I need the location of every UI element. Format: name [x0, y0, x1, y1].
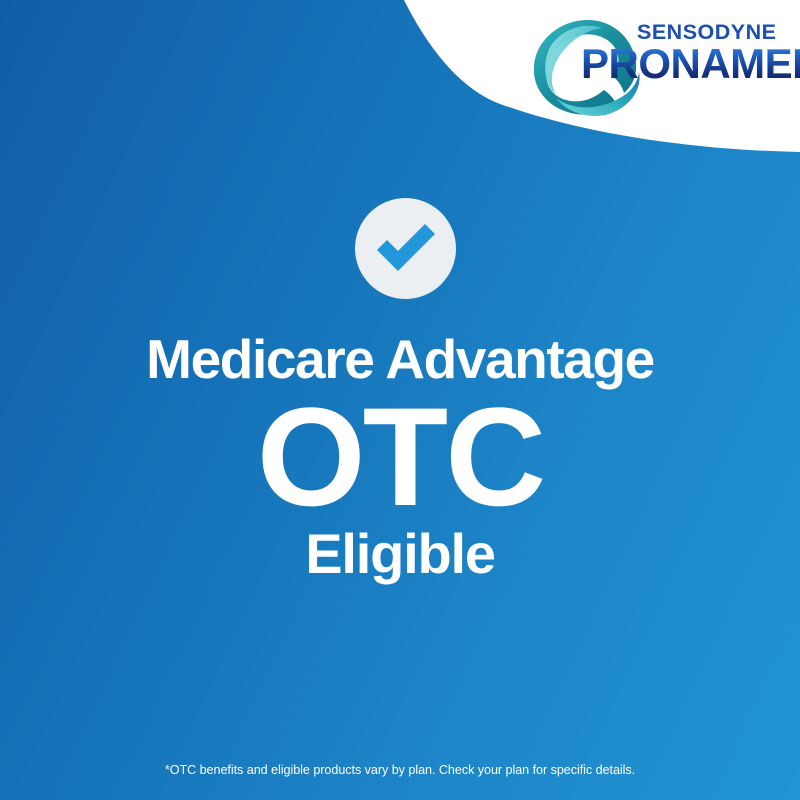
- check-badge: [355, 198, 456, 299]
- pronamel-wordmark: PRONAMEL: [581, 39, 800, 87]
- headline-line-otc: OTC: [0, 390, 800, 523]
- disclaimer-footnote: *OTC benefits and eligible products vary…: [0, 762, 800, 778]
- pronamel-wordmark-text: PRONAMEL: [581, 40, 800, 87]
- headline-line-eligible: Eligible: [0, 525, 800, 584]
- brand-logo: SENSODYNE PRONAMEL: [526, 14, 788, 118]
- promotional-banner: SENSODYNE PRONAMEL Medicare Advantage OT…: [0, 0, 800, 800]
- headline-block: Medicare Advantage OTC Eligible: [0, 330, 800, 584]
- brand-wordmark-group: SENSODYNE PRONAMEL: [622, 22, 792, 108]
